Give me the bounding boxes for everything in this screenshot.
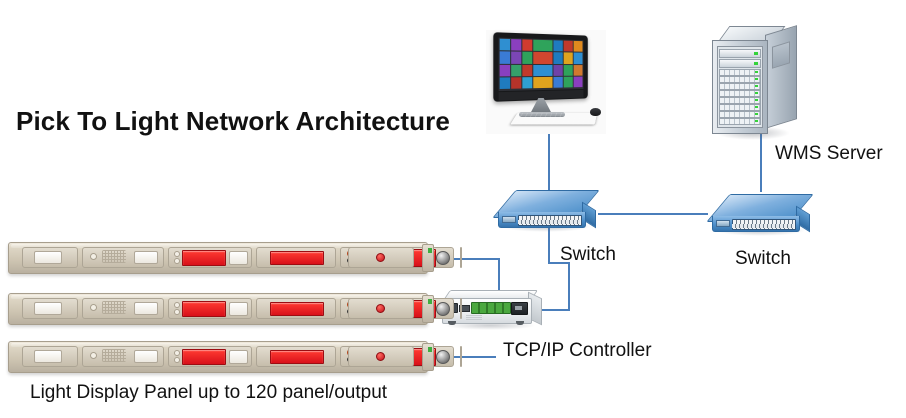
led-display	[182, 250, 226, 266]
server-drive	[719, 111, 761, 118]
start-tile	[500, 39, 510, 51]
start-tile	[564, 65, 573, 76]
start-tile	[574, 76, 583, 87]
server-drive	[719, 97, 761, 104]
controller-foot	[516, 321, 524, 325]
pilot-lamp	[376, 352, 385, 361]
status-dot	[174, 357, 180, 363]
status-dot	[174, 302, 180, 308]
confirm-button	[134, 350, 158, 363]
start-tile	[564, 41, 573, 52]
label-switch-left: Switch	[560, 244, 616, 266]
controller-label-sticker	[466, 314, 482, 320]
confirm-button	[229, 302, 248, 316]
switch-port-row	[732, 224, 794, 228]
server-bay	[719, 49, 761, 58]
start-tile	[522, 64, 532, 76]
confirm-button	[134, 251, 158, 264]
status-dot	[90, 253, 97, 260]
server-drive	[719, 118, 761, 125]
start-tile	[574, 53, 583, 64]
speaker-grill	[102, 250, 126, 263]
confirm-button	[229, 251, 248, 265]
server-drive	[719, 69, 761, 76]
start-tile	[500, 52, 510, 64]
server-drive	[719, 104, 761, 111]
status-dot	[174, 350, 180, 356]
rail-end-cap	[422, 244, 434, 272]
confirm-button	[134, 302, 158, 315]
page-title: Pick To Light Network Architecture	[16, 106, 450, 137]
confirm-button	[229, 350, 248, 364]
start-tile	[564, 76, 573, 87]
start-tile	[522, 77, 532, 89]
panel-module	[460, 298, 462, 319]
keyboard	[510, 113, 597, 125]
led-display	[270, 350, 324, 364]
start-tile	[511, 64, 521, 76]
rotary-knob	[436, 251, 450, 265]
server-drive	[719, 83, 761, 90]
start-tile	[554, 77, 563, 88]
confirm-button	[34, 350, 62, 363]
speaker-grill	[102, 349, 126, 362]
pilot-lamp	[376, 253, 385, 262]
label-tcp-ip-controller: TCP/IP Controller	[503, 340, 652, 362]
light-display-panel[interactable]	[8, 240, 438, 276]
start-tile	[511, 52, 521, 64]
led-display	[270, 251, 324, 265]
start-tile	[554, 52, 563, 63]
all-in-one-computer[interactable]	[486, 30, 606, 134]
start-tile	[533, 40, 553, 52]
status-dot	[174, 251, 180, 257]
start-tile	[533, 77, 553, 89]
start-tile	[511, 39, 521, 51]
controller-foot	[448, 321, 456, 325]
power-connector	[511, 302, 528, 315]
rail-end-cap	[422, 343, 434, 371]
start-tile	[533, 64, 553, 75]
start-tile	[554, 65, 563, 76]
start-tile	[500, 64, 510, 76]
led-display	[182, 301, 226, 317]
switch-status-leds	[716, 220, 730, 227]
network-switch-right[interactable]	[708, 190, 812, 242]
start-tile	[522, 52, 532, 64]
switch-port-row	[518, 220, 580, 224]
diagram-canvas: Pick To Light Network Architecture Light…	[0, 0, 906, 418]
start-tile	[500, 77, 510, 89]
status-dot	[174, 309, 180, 315]
status-dot	[90, 304, 97, 311]
server-drive	[719, 76, 761, 83]
confirm-button	[34, 302, 62, 315]
light-display-panel[interactable]	[8, 291, 438, 327]
start-tile	[522, 39, 532, 51]
label-wms-server: WMS Server	[775, 143, 883, 165]
panel-module	[460, 247, 462, 268]
server-tower[interactable]	[706, 22, 802, 144]
mouse	[590, 108, 601, 116]
start-tile	[554, 40, 563, 51]
pilot-lamp	[376, 304, 385, 313]
led-display	[182, 349, 226, 365]
panel-caption: Light Display Panel up to 120 panel/outp…	[30, 382, 387, 404]
link-controller-riser	[568, 262, 570, 310]
light-display-panel[interactable]	[8, 339, 438, 375]
start-tile	[574, 65, 583, 76]
rotary-knob	[436, 302, 450, 316]
led-display	[270, 302, 324, 316]
status-dot	[174, 258, 180, 264]
rail-end-cap	[422, 295, 434, 323]
speaker-grill	[102, 301, 126, 314]
server-bay	[719, 59, 761, 68]
start-tile	[564, 53, 573, 64]
server-side-face	[765, 25, 797, 129]
confirm-button	[34, 251, 62, 264]
server-drive	[719, 90, 761, 97]
panel-module	[460, 346, 462, 367]
monitor-screen	[499, 38, 584, 91]
link-pc-to-switch-left	[548, 132, 550, 190]
link-switch-left-to-switch-right	[598, 213, 708, 215]
rotary-knob	[436, 350, 450, 364]
monitor-bezel	[493, 32, 587, 102]
status-dot	[90, 352, 97, 359]
label-switch-right: Switch	[735, 248, 791, 270]
start-tile	[574, 41, 583, 52]
start-tile	[533, 52, 553, 63]
network-switch-left[interactable]	[494, 186, 598, 238]
switch-status-leds	[502, 216, 516, 223]
terminal-block-connector	[471, 302, 511, 314]
start-tile	[511, 77, 521, 89]
